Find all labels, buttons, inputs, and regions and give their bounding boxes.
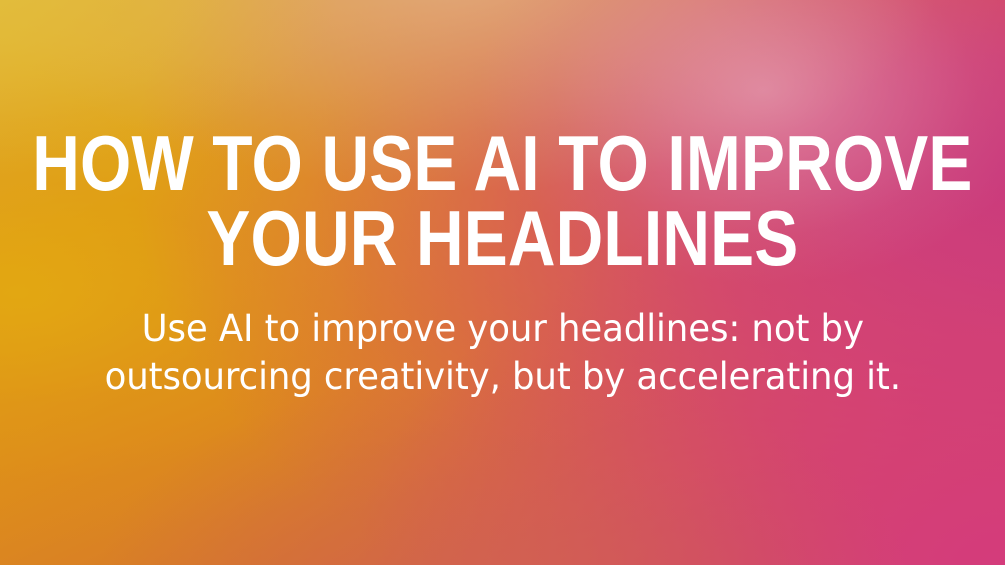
title-card: How to use AI to improve your headlines …: [0, 0, 1005, 565]
page-title: How to use AI to improve your headlines: [32, 126, 972, 275]
page-subtitle: Use AI to improve your headlines: not by…: [104, 305, 900, 400]
page-subtitle-line-2: outsourcing creativity, but by accelerat…: [104, 353, 900, 401]
page-title-line-2: your headlines: [32, 201, 972, 275]
page-title-line-1: How to use AI to improve: [32, 126, 972, 200]
page-subtitle-line-1: Use AI to improve your headlines: not by: [104, 305, 900, 353]
text-content: How to use AI to improve your headlines …: [0, 0, 1005, 565]
